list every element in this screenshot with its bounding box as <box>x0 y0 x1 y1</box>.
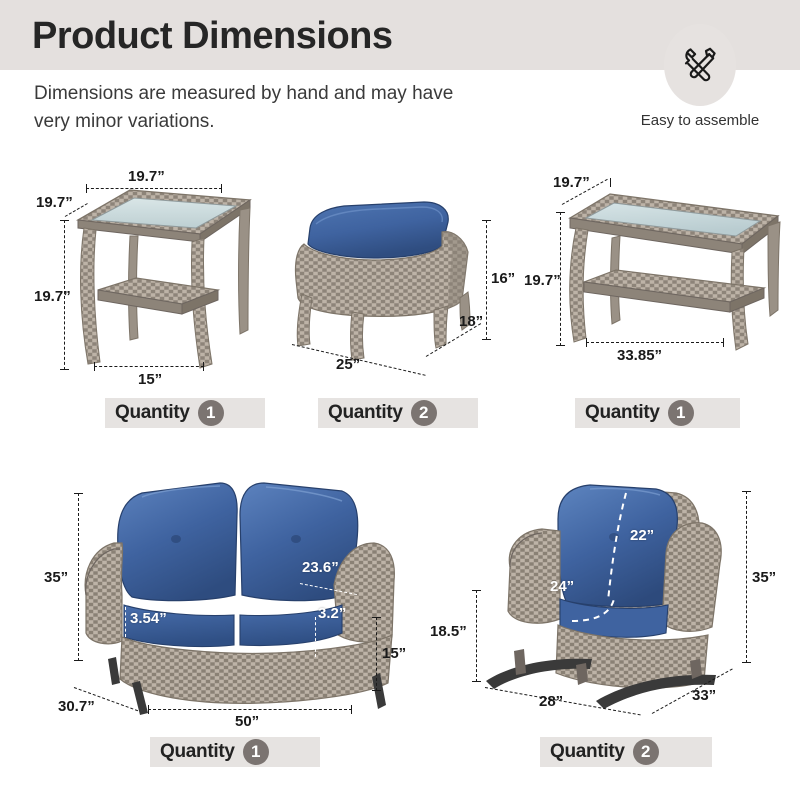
dim-cap <box>472 681 481 682</box>
dim-seat-back-width: 23.6” <box>302 559 339 576</box>
dim-cap <box>351 705 352 714</box>
quantity-bar-side-table: Quantity 1 <box>105 398 265 428</box>
dim-back-cushion-thickness: 3.54” <box>130 610 167 627</box>
page-title: Product Dimensions <box>32 10 393 62</box>
quantity-bar-loveseat: Quantity 1 <box>150 737 320 767</box>
dim-seat-height: 18.5” <box>430 623 467 640</box>
dim-cap <box>372 690 381 691</box>
dim-height: 19.7” <box>34 288 71 305</box>
product-ottoman: 16” 18” 25” Quantity 2 <box>278 160 518 445</box>
quantity-badge: 2 <box>633 739 659 765</box>
dim-width: 50” <box>235 713 259 730</box>
product-row-top: 19.7” 19.7” 19.7” 15” Quantity 1 <box>0 160 800 445</box>
dim-top-width: 19.7” <box>128 168 165 185</box>
quantity-label: Quantity <box>115 402 190 424</box>
dim-height: 19.7” <box>524 272 561 289</box>
dim-cap <box>482 220 491 221</box>
dim-cap <box>74 660 83 661</box>
dim-cap <box>94 362 95 371</box>
dim-cap <box>60 220 69 221</box>
dim-base-width: 15” <box>138 371 162 388</box>
dim-height: 16” <box>491 270 515 287</box>
dim-cap <box>74 493 83 494</box>
dim-cap <box>221 184 222 193</box>
dim-height: 35” <box>44 569 68 586</box>
dim-line-height <box>746 491 747 663</box>
dim-height: 35” <box>752 569 776 586</box>
quantity-badge: 1 <box>243 739 269 765</box>
dim-line-seat-height <box>376 617 377 691</box>
dim-line-width <box>148 709 352 710</box>
dim-cap <box>482 339 491 340</box>
dim-cap <box>556 212 565 213</box>
dim-width: 33.85” <box>617 347 662 364</box>
dim-line-seat-height <box>476 590 477 682</box>
badge-label: Easy to assemble <box>640 112 760 129</box>
dim-line-top-width <box>86 188 222 189</box>
quantity-badge: 2 <box>411 400 437 426</box>
quantity-badge: 1 <box>668 400 694 426</box>
dim-line-base-width <box>94 366 204 367</box>
dim-cap <box>148 705 149 714</box>
dim-cap <box>742 662 751 663</box>
dim-depth: 19.7” <box>553 174 590 191</box>
dim-cap <box>742 491 751 492</box>
dim-cap <box>60 369 69 370</box>
dim-cap <box>610 178 611 187</box>
quantity-bar-rocking-chair: Quantity 2 <box>540 737 712 767</box>
easy-to-assemble-badge: Easy to assemble <box>640 24 760 129</box>
dim-seat-cushion-thickness: 3.2” <box>318 605 346 622</box>
quantity-label: Quantity <box>585 402 660 424</box>
dim-line-back-thickness <box>125 607 126 637</box>
product-coffee-table: 19.7” 19.7” 33.85” Quantity 1 <box>530 160 790 445</box>
dim-depth: 30.7” <box>58 698 95 715</box>
dim-cap <box>372 617 381 618</box>
side-table-illustration <box>70 178 265 393</box>
product-loveseat: 35” 23.6” 3.2” 3.54” 15” 30.7” 50” Quant… <box>30 465 430 795</box>
product-side-table: 19.7” 19.7” 19.7” 15” Quantity 1 <box>40 160 290 445</box>
quantity-badge: 1 <box>198 400 224 426</box>
quantity-label: Quantity <box>328 402 403 424</box>
quantity-label: Quantity <box>160 741 235 763</box>
dim-width: 25” <box>336 356 360 373</box>
coffee-table-illustration <box>560 186 790 366</box>
product-row-bottom: 35” 23.6” 3.2” 3.54” 15” 30.7” 50” Quant… <box>0 465 800 795</box>
dim-cap <box>556 345 565 346</box>
dim-line-height <box>486 220 487 340</box>
quantity-label: Quantity <box>550 741 625 763</box>
product-rocking-chair: 22” 24” 35” 18.5” 28” 33” Quantity 2 <box>440 465 800 795</box>
dim-cap <box>586 338 587 347</box>
quantity-bar-ottoman: Quantity 2 <box>318 398 478 428</box>
dim-cap <box>203 362 204 371</box>
dim-seat-diagonal: 24” <box>550 578 574 595</box>
page-subtitle: Dimensions are measured by hand and may … <box>34 80 464 136</box>
quantity-bar-coffee-table: Quantity 1 <box>575 398 740 428</box>
loveseat-illustration <box>80 477 400 727</box>
dim-width: 28” <box>539 693 563 710</box>
dim-line-height <box>78 493 79 661</box>
product-dimensions-infographic: Product Dimensions Dimensions are measur… <box>0 0 800 800</box>
dim-depth: 18” <box>459 313 483 330</box>
dim-cap <box>723 338 724 347</box>
dim-seat-height: 15” <box>382 645 406 662</box>
dim-line-width <box>586 342 724 343</box>
dim-depth: 33” <box>692 687 716 704</box>
dim-back-cushion-height: 22” <box>630 527 654 544</box>
dim-cap <box>472 590 481 591</box>
dim-line-seat-thickness <box>315 617 316 657</box>
dim-depth: 19.7” <box>36 194 73 211</box>
badge-circle <box>664 24 736 106</box>
wrench-hammer-icon <box>675 40 725 90</box>
dim-cap <box>86 184 87 193</box>
